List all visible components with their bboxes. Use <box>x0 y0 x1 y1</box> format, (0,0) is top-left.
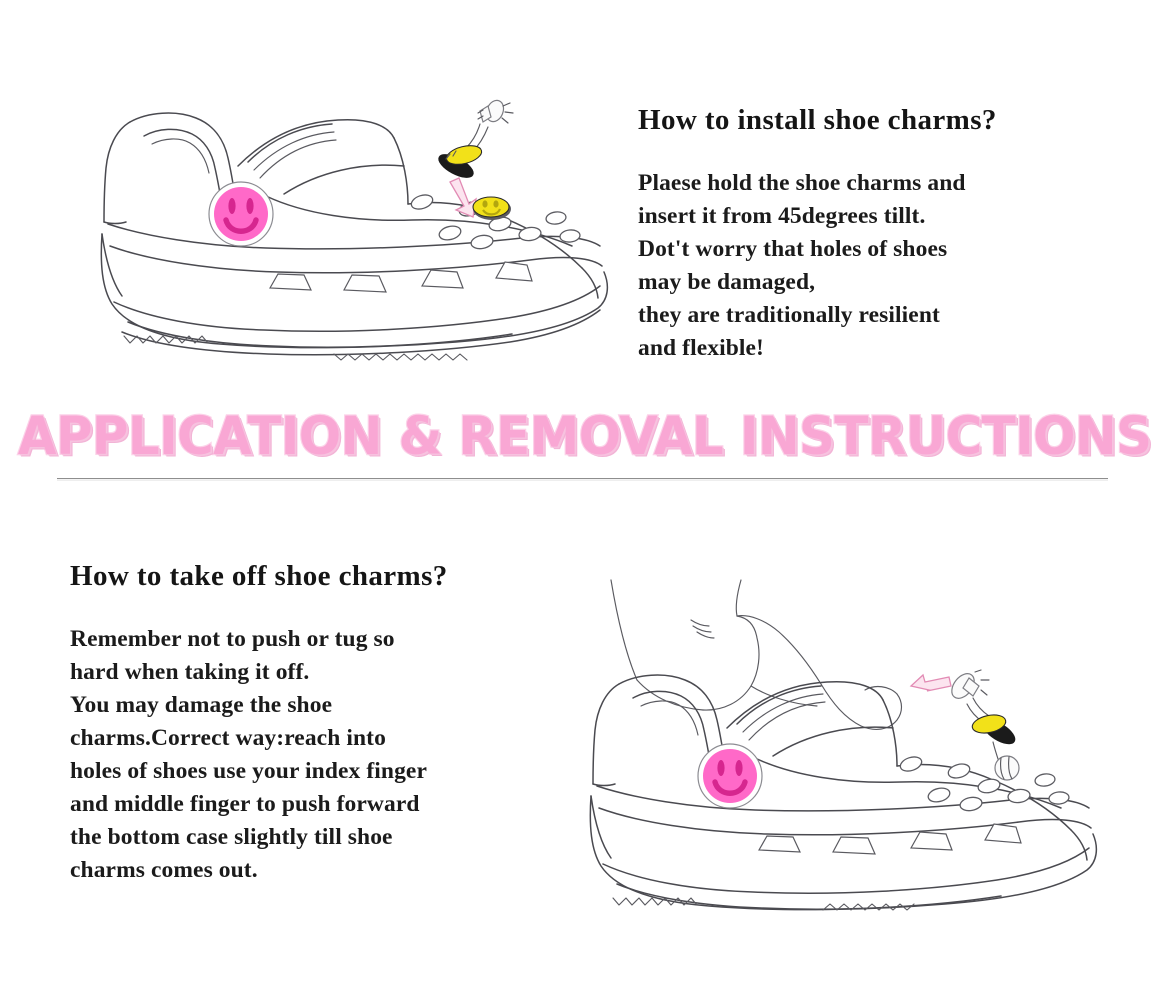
charm-back-post-bottom <box>947 669 989 702</box>
removal-line-5: holes of shoes use your index finger <box>70 755 570 788</box>
install-line-5: they are traditionally resilient <box>638 299 1118 332</box>
removal-heading: How to take off shoe charms? <box>70 560 570 593</box>
removal-line-4: charms.Correct way:reach into <box>70 722 570 755</box>
banner-title: APPLICATION & REMOVAL INSTRUCTIONS <box>18 410 1152 463</box>
install-heading: How to install shoe charms? <box>638 104 1118 137</box>
charm-insertion-detail-top <box>435 98 513 220</box>
pink-smiley-charm-top <box>209 182 273 246</box>
remove-arrow <box>911 675 951 691</box>
install-line-6: and flexible! <box>638 332 1118 365</box>
charm-plug-in-hole <box>995 756 1019 780</box>
removal-text-block: How to take off shoe charms? Remember no… <box>70 560 570 887</box>
shoe-vent-holes-bottom <box>899 754 1070 812</box>
removal-line-1: Remember not to push or tug so <box>70 623 570 656</box>
removal-line-6: and middle finger to push forward <box>70 788 570 821</box>
install-line-2: insert it from 45degrees tillt. <box>638 200 1118 233</box>
hand-reaching-into-shoe <box>611 580 902 729</box>
removal-line-8: charms comes out. <box>70 854 570 887</box>
install-line-3: Dot't worry that holes of shoes <box>638 233 1118 266</box>
install-line-4: may be damaged, <box>638 266 1118 299</box>
install-illustration <box>52 96 622 356</box>
insert-arrow <box>450 178 476 217</box>
section-divider <box>57 478 1108 479</box>
install-text-block: How to install shoe charms? Plaese hold … <box>638 104 1118 365</box>
removal-line-7: the bottom case slightly till shoe <box>70 821 570 854</box>
removal-line-2: hard when taking it off. <box>70 656 570 689</box>
removal-body: Remember not to push or tug so hard when… <box>70 623 570 887</box>
install-line-1: Plaese hold the shoe charms and <box>638 167 1118 200</box>
install-body: Plaese hold the shoe charms and insert i… <box>638 167 1118 365</box>
banner: APPLICATION & REMOVAL INSTRUCTIONS <box>0 404 1170 468</box>
removal-illustration <box>545 580 1125 910</box>
charm-back-post <box>478 98 513 124</box>
charm-tilted <box>435 142 483 182</box>
charm-removal-detail <box>911 669 1019 780</box>
removal-line-3: You may damage the shoe <box>70 689 570 722</box>
charm-seated-yellow <box>473 197 511 220</box>
pink-smiley-charm-bottom <box>698 744 762 808</box>
instruction-sheet: How to install shoe charms? Plaese hold … <box>0 0 1170 1004</box>
